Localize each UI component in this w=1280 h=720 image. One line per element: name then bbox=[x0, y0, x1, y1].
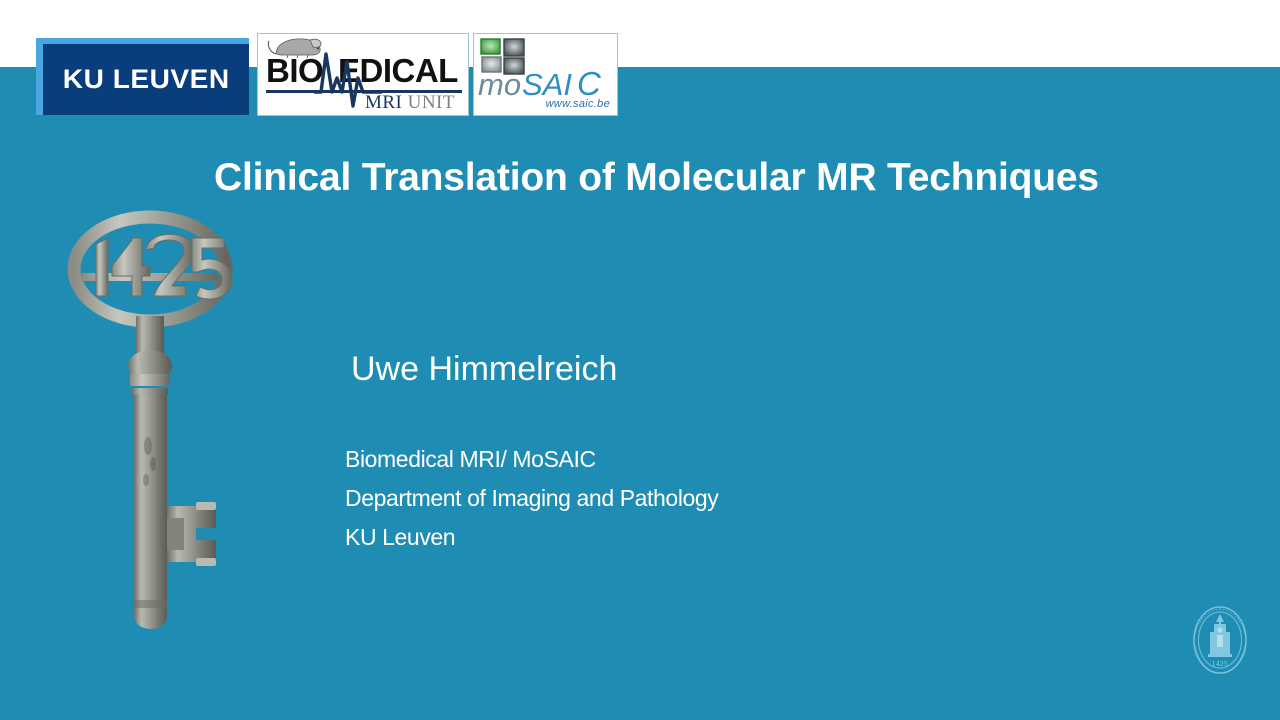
biomedical-subtitle: MRI UNIT bbox=[258, 92, 463, 114]
antique-key-image bbox=[56, 196, 256, 636]
affiliation-line-3: KU Leuven bbox=[345, 518, 945, 557]
affiliation-line-2: Department of Imaging and Pathology bbox=[345, 479, 945, 518]
biomedical-subtitle-mri: MRI bbox=[365, 92, 408, 113]
svg-text:mo: mo bbox=[478, 68, 521, 102]
biomedical-mri-unit-logo: BIO EDICAL MRI UNIT bbox=[257, 33, 469, 116]
mosaic-url-text: www.saic.be bbox=[474, 98, 610, 110]
ku-leuven-logo: KU LEUVEN bbox=[36, 38, 249, 115]
ku-leuven-logo-box: KU LEUVEN bbox=[43, 44, 249, 115]
mosaic-wordmark: mo SAI C bbox=[476, 68, 618, 102]
logo-bar: KU LEUVEN BIO EDICAL bbox=[0, 0, 1280, 125]
biomedical-subtitle-unit: UNIT bbox=[408, 92, 455, 113]
author-name: Uwe Himmelreich bbox=[351, 348, 617, 390]
mosaic-logo: mo SAI C www.saic.be bbox=[473, 33, 618, 116]
svg-text:C: C bbox=[577, 68, 602, 102]
presentation-slide: KU LEUVEN BIO EDICAL bbox=[0, 0, 1280, 720]
ku-leuven-logo-text: KU LEUVEN bbox=[63, 64, 230, 95]
page-title: Clinical Translation of Molecular MR Tec… bbox=[214, 155, 1264, 201]
svg-text:SAI: SAI bbox=[522, 68, 572, 102]
seal-year: 1425 bbox=[1212, 660, 1228, 668]
affiliation-block: Biomedical MRI/ MoSAIC Department of Ima… bbox=[345, 440, 945, 557]
ku-leuven-seal: 1425 bbox=[1190, 604, 1250, 676]
affiliation-line-1: Biomedical MRI/ MoSAIC bbox=[345, 440, 945, 479]
